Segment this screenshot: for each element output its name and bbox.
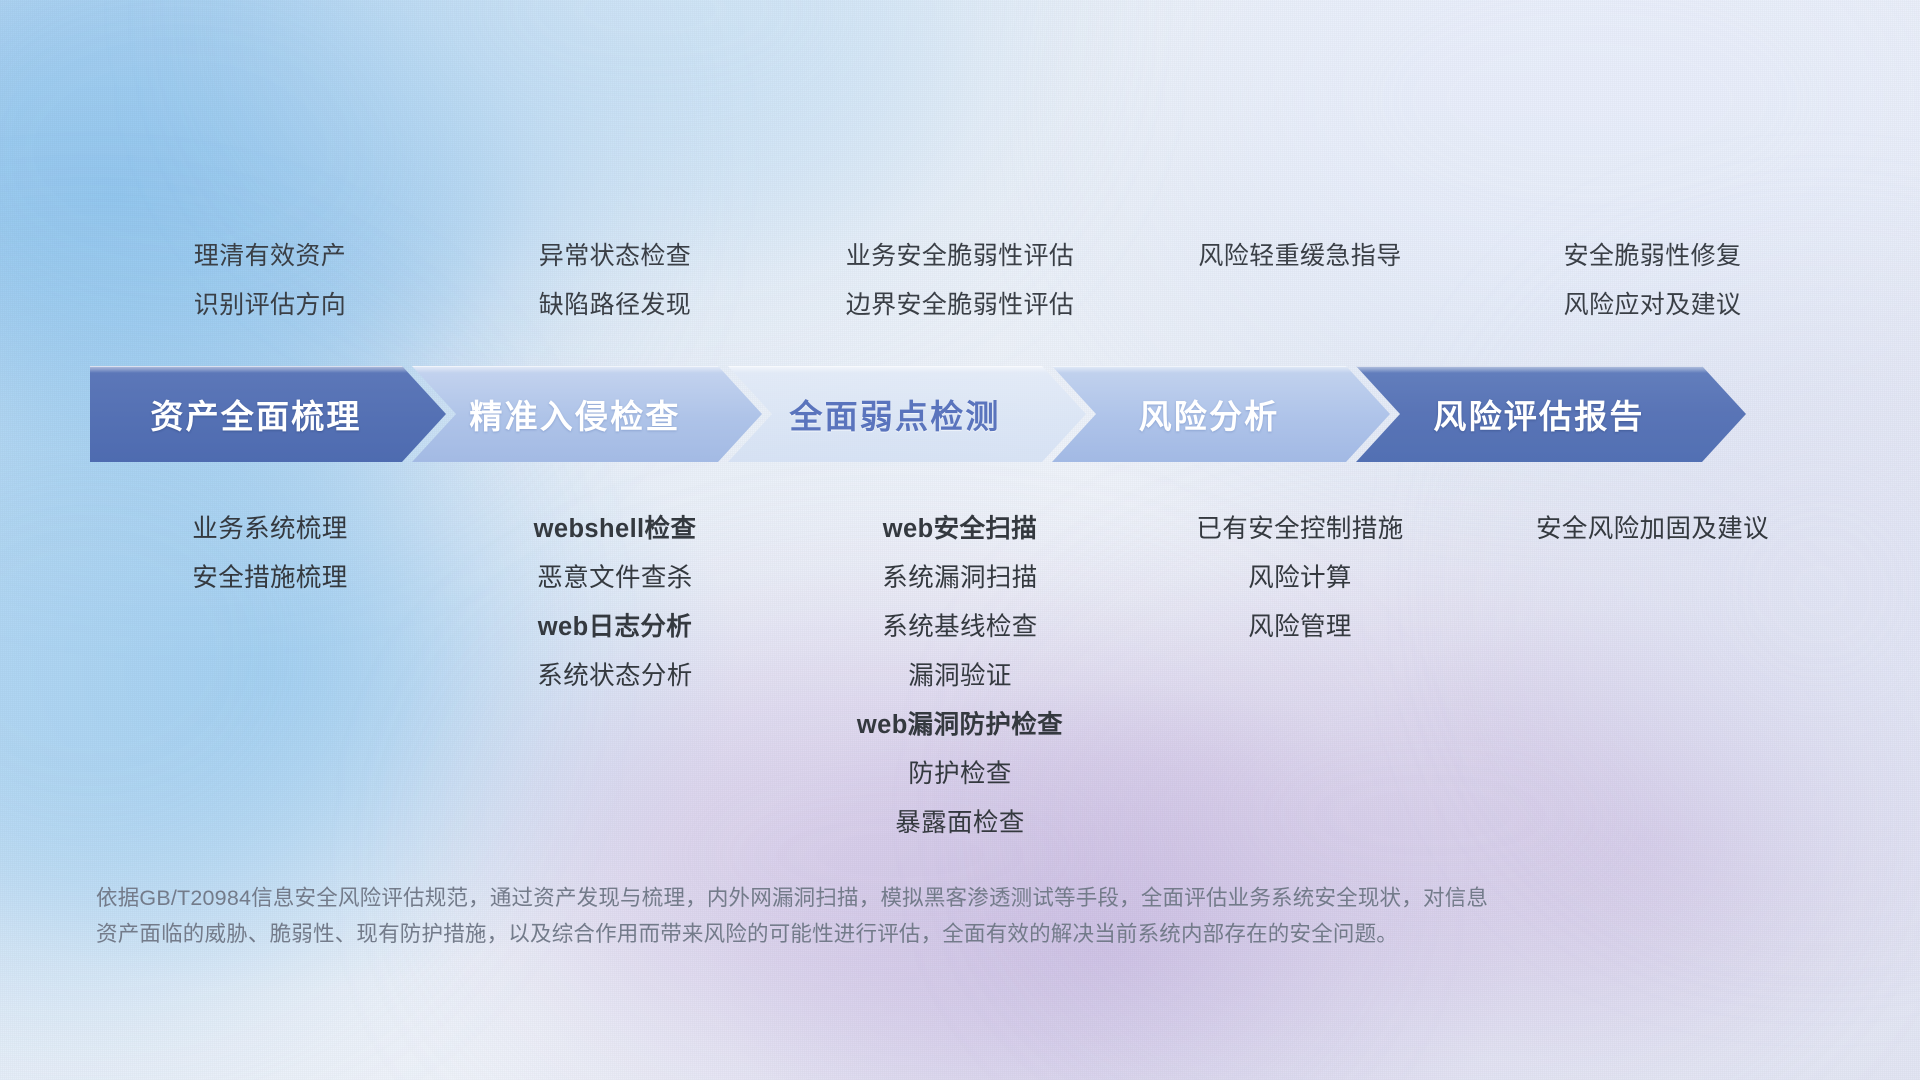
chevron-label: 精准入侵检查 — [469, 390, 680, 438]
bottom-note: 安全措施梳理 — [95, 554, 445, 603]
bottom-note: webshell检查 — [445, 505, 785, 554]
diagram-content: 理清有效资产 识别评估方向 异常状态检查 缺陷路径发现 业务安全脆弱性评估 边界… — [0, 0, 1920, 1080]
bottom-note: 恶意文件查杀 — [445, 554, 785, 603]
top-note: 缺陷路径发现 — [445, 281, 785, 330]
chevron-step-intrusion-check[interactable]: 精准入侵检查 — [412, 366, 762, 462]
bottom-note: 已有安全控制措施 — [1135, 505, 1465, 554]
chevron-step-weakness-detection[interactable]: 全面弱点检测 — [728, 366, 1086, 462]
top-note: 风险应对及建议 — [1465, 281, 1840, 330]
bottom-notes-asset-inventory: 业务系统梳理 安全措施梳理 — [95, 505, 445, 603]
bottom-note: web日志分析 — [445, 603, 785, 652]
bottom-annotations-row: 业务系统梳理 安全措施梳理 webshell检查 恶意文件查杀 web日志分析 … — [95, 505, 1840, 848]
slide-canvas: 理清有效资产 识别评估方向 异常状态检查 缺陷路径发现 业务安全脆弱性评估 边界… — [0, 0, 1920, 1080]
top-note: 业务安全脆弱性评估 — [785, 232, 1135, 281]
top-notes-risk-report: 安全脆弱性修复 风险应对及建议 — [1465, 232, 1840, 330]
top-notes-risk-analysis: 风险轻重缓急指导 — [1135, 232, 1465, 281]
bottom-note: 风险计算 — [1135, 554, 1465, 603]
top-annotations-row: 理清有效资产 识别评估方向 异常状态检查 缺陷路径发现 业务安全脆弱性评估 边界… — [95, 232, 1840, 330]
bottom-note: 防护检查 — [785, 750, 1135, 799]
chevron-step-risk-report[interactable]: 风险评估报告 — [1356, 366, 1746, 462]
top-note: 识别评估方向 — [95, 281, 445, 330]
bottom-note: 系统状态分析 — [445, 652, 785, 701]
top-note: 理清有效资产 — [95, 232, 445, 281]
bottom-note: 漏洞验证 — [785, 652, 1135, 701]
top-note: 安全脆弱性修复 — [1465, 232, 1840, 281]
top-note: 异常状态检查 — [445, 232, 785, 281]
process-chevron-band: 资产全面梳理 精准入侵检查 全面弱点检测 风险分析 风险评估报告 — [90, 366, 1850, 462]
bottom-note: 安全风险加固及建议 — [1465, 505, 1840, 554]
footer-description: 依据GB/T20984信息安全风险评估规范，通过资产发现与梳理，内外网漏洞扫描，… — [96, 880, 1616, 952]
top-notes-asset-inventory: 理清有效资产 识别评估方向 — [95, 232, 445, 330]
chevron-label: 资产全面梳理 — [150, 390, 361, 438]
chevron-label: 风险分析 — [1139, 390, 1280, 438]
top-note: 风险轻重缓急指导 — [1135, 232, 1465, 281]
bottom-note: 风险管理 — [1135, 603, 1465, 652]
top-note: 边界安全脆弱性评估 — [785, 281, 1135, 330]
bottom-notes-intrusion-check: webshell检查 恶意文件查杀 web日志分析 系统状态分析 — [445, 505, 785, 701]
bottom-note: 暴露面检查 — [785, 799, 1135, 848]
footer-line-1: 依据GB/T20984信息安全风险评估规范，通过资产发现与梳理，内外网漏洞扫描，… — [96, 880, 1616, 916]
chevron-step-asset-inventory[interactable]: 资产全面梳理 — [90, 366, 446, 462]
top-notes-weakness-detection: 业务安全脆弱性评估 边界安全脆弱性评估 — [785, 232, 1135, 330]
bottom-notes-risk-analysis: 已有安全控制措施 风险计算 风险管理 — [1135, 505, 1465, 652]
bottom-note: web安全扫描 — [785, 505, 1135, 554]
top-notes-intrusion-check: 异常状态检查 缺陷路径发现 — [445, 232, 785, 330]
bottom-note: web漏洞防护检查 — [785, 701, 1135, 750]
bottom-notes-risk-report: 安全风险加固及建议 — [1465, 505, 1840, 554]
footer-line-2: 资产面临的威胁、脆弱性、现有防护措施，以及综合作用而带来风险的可能性进行评估，全… — [96, 916, 1616, 952]
bottom-notes-weakness-detection: web安全扫描 系统漏洞扫描 系统基线检查 漏洞验证 web漏洞防护检查 防护检… — [785, 505, 1135, 848]
bottom-note: 业务系统梳理 — [95, 505, 445, 554]
chevron-step-risk-analysis[interactable]: 风险分析 — [1052, 366, 1390, 462]
chevron-label: 风险评估报告 — [1433, 390, 1644, 438]
bottom-note: 系统漏洞扫描 — [785, 554, 1135, 603]
chevron-label: 全面弱点检测 — [789, 390, 1000, 438]
bottom-note: 系统基线检查 — [785, 603, 1135, 652]
